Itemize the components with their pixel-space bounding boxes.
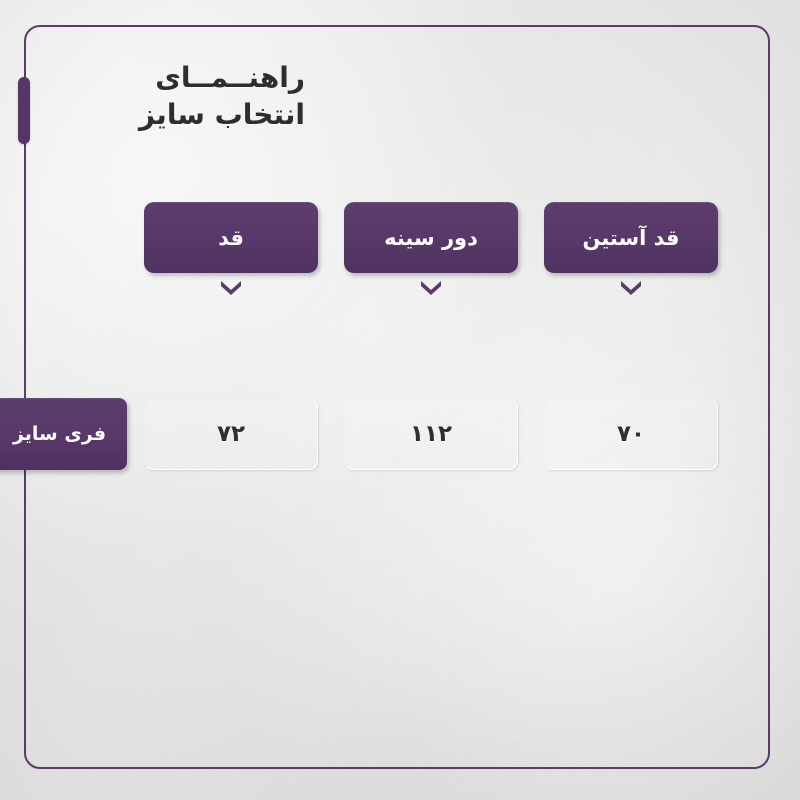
chevron-down-icon xyxy=(618,278,644,296)
page-title-line-2: انتخاب سایز xyxy=(139,99,305,131)
decorative-frame-border xyxy=(24,25,770,769)
row-label-free-size: فری سایز xyxy=(0,398,127,470)
column-header-chest[interactable]: دور سینه xyxy=(344,202,518,273)
column-header-label: قد xyxy=(218,226,244,250)
column-header-label: دور سینه xyxy=(384,226,478,250)
frame-accent-pill xyxy=(18,77,30,144)
table-cell-chest: ۱۱۲ xyxy=(344,398,518,470)
size-guide-page: راهنــمــای انتخاب سایز قد دور سینه قد آ… xyxy=(0,0,800,800)
column-header-label: قد آستین xyxy=(582,226,679,250)
cell-value: ۷۲ xyxy=(217,421,245,447)
page-title-line-1: راهنــمــای xyxy=(139,62,305,94)
row-label-text: فری سایز xyxy=(13,423,106,445)
column-header-sleeve-length[interactable]: قد آستین xyxy=(544,202,718,273)
page-title: راهنــمــای انتخاب سایز xyxy=(139,62,305,131)
column-header-length[interactable]: قد xyxy=(144,202,318,273)
cell-value: ۷۰ xyxy=(617,421,645,447)
table-cell-sleeve-length: ۷۰ xyxy=(544,398,718,470)
table-cell-length: ۷۲ xyxy=(144,398,318,470)
chevron-down-icon xyxy=(418,278,444,296)
cell-value: ۱۱۲ xyxy=(410,421,452,447)
chevron-down-icon xyxy=(218,278,244,296)
